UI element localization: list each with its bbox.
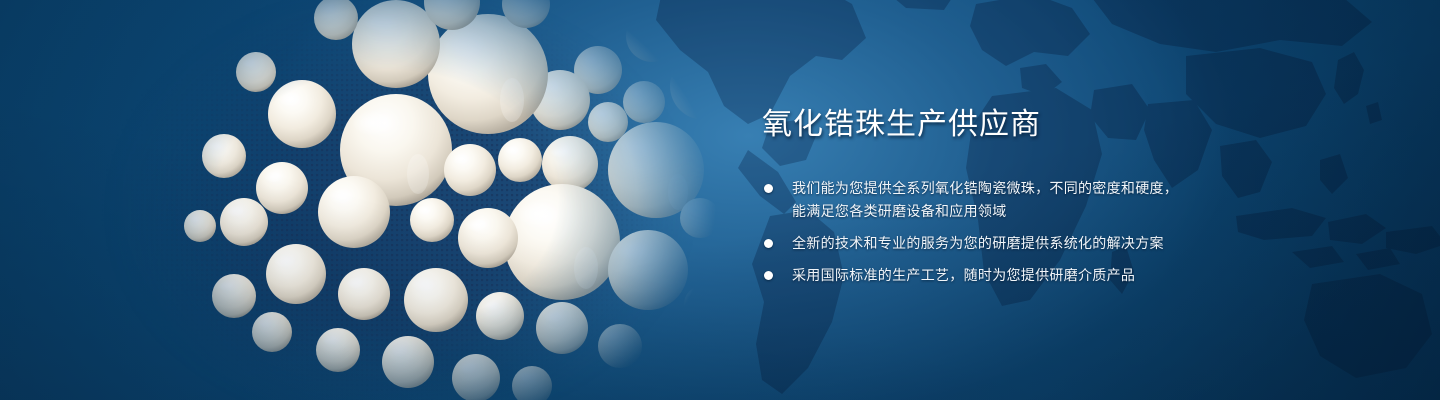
list-item-line: 采用国际标准的生产工艺，随时为您提供研磨介质产品 [792,264,1302,287]
list-item: 全新的技术和专业的服务为您的研磨提供系统化的解决方案 [762,232,1302,255]
feature-list: 我们能为您提供全系列氧化锆陶瓷微珠，不同的密度和硬度， 能满足您各类研磨设备和应… [762,177,1302,287]
list-item: 我们能为您提供全系列氧化锆陶瓷微珠，不同的密度和硬度， 能满足您各类研磨设备和应… [762,177,1302,223]
hero-banner: 氧化锆珠生产供应商 我们能为您提供全系列氧化锆陶瓷微珠，不同的密度和硬度， 能满… [0,0,1440,400]
bullet-dot-icon [764,239,773,248]
banner-copy: 氧化锆珠生产供应商 我们能为您提供全系列氧化锆陶瓷微珠，不同的密度和硬度， 能满… [762,108,1302,287]
bullet-dot-icon [764,184,773,193]
page-title: 氧化锆珠生产供应商 [762,108,1302,141]
bullet-dot-icon [764,271,773,280]
list-item-line: 全新的技术和专业的服务为您的研磨提供系统化的解决方案 [792,232,1302,255]
list-item: 采用国际标准的生产工艺，随时为您提供研磨介质产品 [762,264,1302,287]
list-item-line: 我们能为您提供全系列氧化锆陶瓷微珠，不同的密度和硬度， [792,177,1302,200]
list-item-line: 能满足您各类研磨设备和应用领域 [792,200,1302,223]
